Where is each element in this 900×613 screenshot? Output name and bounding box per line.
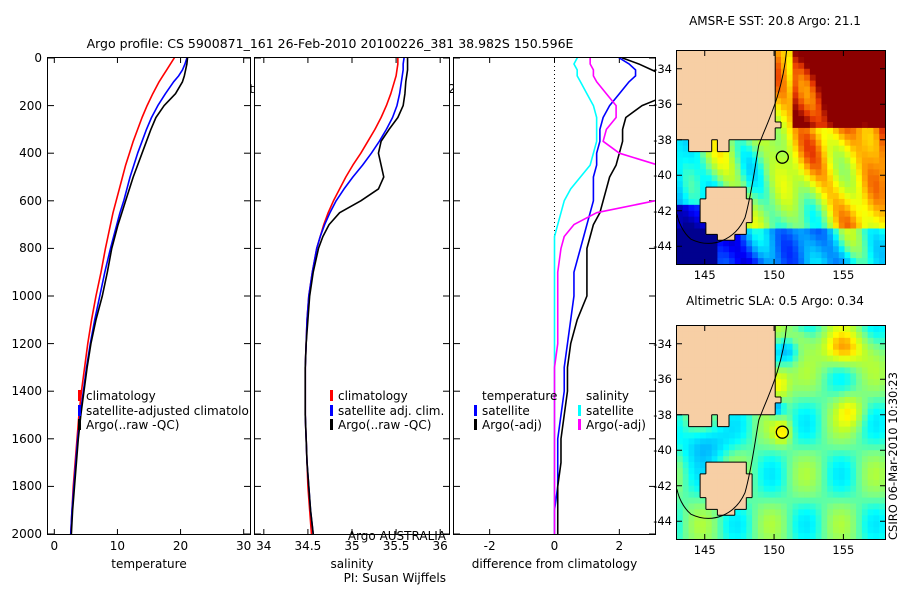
- legend-item: Argo(..raw -QC): [330, 418, 444, 433]
- map-latitude-tick-label: -40: [640, 443, 672, 457]
- legend-item-label: Argo(-adj): [482, 418, 542, 432]
- map-latitude-tick-label: -36: [640, 97, 672, 111]
- legend-item-label: satellite-adjusted climatolo: [86, 404, 249, 418]
- salinity-plot-area: [255, 58, 449, 534]
- legend-color-swatch: [78, 405, 81, 416]
- depth-tick-label: 1200: [0, 337, 42, 351]
- temperature-axis-label: temperature: [47, 557, 251, 571]
- map-latitude-tick-label: -42: [640, 479, 672, 493]
- argo-profile-figure: Argo profile: CS 5900871_161 26-Feb-2010…: [0, 0, 900, 580]
- legend-color-swatch: [578, 405, 581, 416]
- salinity-panel: [254, 57, 450, 535]
- sst-map-title: AMSR-E SST: 20.8 Argo: 21.1: [664, 14, 886, 28]
- sla-map-title: Altimetric SLA: 0.5 Argo: 0.34: [664, 294, 886, 308]
- map-latitude-tick-label: -38: [640, 133, 672, 147]
- legend-heading: temperature: [474, 389, 557, 404]
- legend-item-label: satellite adj. clim.: [338, 404, 444, 418]
- axis-tick-label: 0: [50, 539, 58, 553]
- axis-tick-label: 0: [551, 539, 559, 553]
- map-latitude-tick-label: -44: [640, 239, 672, 253]
- legend-color-swatch: [330, 405, 333, 416]
- legend-item-label: Argo(..raw -QC): [338, 418, 431, 432]
- depth-tick-label: 800: [0, 241, 42, 255]
- difference-legend-temperature: temperaturesatelliteArgo(-adj): [474, 389, 557, 433]
- legend-heading: salinity: [578, 389, 646, 404]
- program-name: Argo AUSTRALIA: [250, 529, 446, 543]
- depth-tick-label: 2000: [0, 527, 42, 541]
- legend-item-label: Argo(-adj): [586, 418, 646, 432]
- axis-tick-label: 10: [110, 539, 125, 553]
- sla-map-area: [677, 326, 885, 539]
- map-longitude-tick-label: 145: [694, 543, 716, 557]
- figure-title-line-1: Argo profile: CS 5900871_161 26-Feb-2010…: [0, 36, 660, 51]
- legend-heading-label: temperature: [482, 389, 557, 403]
- map-longitude-tick-label: 145: [694, 268, 716, 282]
- difference-axis-label: difference from climatology: [453, 557, 656, 571]
- map-longitude-tick-label: 155: [832, 543, 854, 557]
- legend-color-swatch: [474, 419, 477, 430]
- map-longitude-tick-label: 150: [763, 268, 785, 282]
- depth-tick-label: 0: [0, 51, 42, 65]
- legend-item: satellite: [578, 404, 646, 419]
- axis-tick-label: 2: [616, 539, 624, 553]
- legend-item: satellite adj. clim.: [330, 404, 444, 419]
- legend-item: Argo(-adj): [474, 418, 557, 433]
- map-latitude-tick-label: -40: [640, 168, 672, 182]
- axis-tick-label: -2: [484, 539, 496, 553]
- legend-color-swatch: [578, 419, 581, 430]
- temperature-legend: climatologysatellite-adjusted climatoloA…: [78, 389, 249, 433]
- legend-item: satellite-adjusted climatolo: [78, 404, 249, 419]
- map-latitude-tick-label: -38: [640, 408, 672, 422]
- map-latitude-tick-label: -36: [640, 372, 672, 386]
- map-latitude-tick-label: -34: [640, 337, 672, 351]
- sst-map-panel: [676, 50, 886, 265]
- principal-investigator: PI: Susan Wijffels: [250, 571, 446, 585]
- difference-panel: [453, 57, 656, 535]
- legend-color-swatch: [474, 405, 477, 416]
- difference-legend-salinity: salinitysatelliteArgo(-adj): [578, 389, 646, 433]
- temperature-plot-area: [48, 58, 250, 534]
- depth-tick-label: 400: [0, 146, 42, 160]
- sla-map-panel: [676, 325, 886, 540]
- legend-color-swatch: [330, 419, 333, 430]
- map-latitude-tick-label: -42: [640, 204, 672, 218]
- depth-tick-label: 1400: [0, 384, 42, 398]
- legend-item: climatology: [78, 389, 249, 404]
- legend-item: climatology: [330, 389, 444, 404]
- argo-program-credit: Argo AUSTRALIA PI: Susan Wijffels: [250, 501, 446, 613]
- legend-color-swatch: [78, 419, 81, 430]
- legend-item: Argo(-adj): [578, 418, 646, 433]
- legend-item: satellite: [474, 404, 557, 419]
- map-longitude-tick-label: 150: [763, 543, 785, 557]
- depth-tick-label: 600: [0, 194, 42, 208]
- depth-tick-label: 1800: [0, 479, 42, 493]
- legend-heading-label: salinity: [586, 389, 629, 403]
- depth-tick-label: 1000: [0, 289, 42, 303]
- map-latitude-tick-label: -44: [640, 514, 672, 528]
- sst-map-area: [677, 51, 885, 264]
- legend-item: Argo(..raw -QC): [78, 418, 249, 433]
- difference-plot-area: [454, 58, 655, 534]
- legend-item-label: satellite: [482, 404, 530, 418]
- legend-item-label: Argo(..raw -QC): [86, 418, 179, 432]
- csiro-timestamp: CSIRO 06-Mar-2010 10:30:23: [886, 372, 900, 540]
- depth-tick-label: 200: [0, 99, 42, 113]
- map-longitude-tick-label: 155: [832, 268, 854, 282]
- legend-color-swatch: [78, 390, 81, 401]
- legend-item-label: climatology: [338, 389, 408, 403]
- map-latitude-tick-label: -34: [640, 62, 672, 76]
- axis-tick-label: 20: [173, 539, 188, 553]
- temperature-panel: [47, 57, 251, 535]
- salinity-legend: climatologysatellite adj. clim.Argo(..ra…: [330, 389, 444, 433]
- legend-item-label: climatology: [86, 389, 156, 403]
- depth-tick-label: 1600: [0, 432, 42, 446]
- legend-item-label: satellite: [586, 404, 634, 418]
- legend-color-swatch: [330, 390, 333, 401]
